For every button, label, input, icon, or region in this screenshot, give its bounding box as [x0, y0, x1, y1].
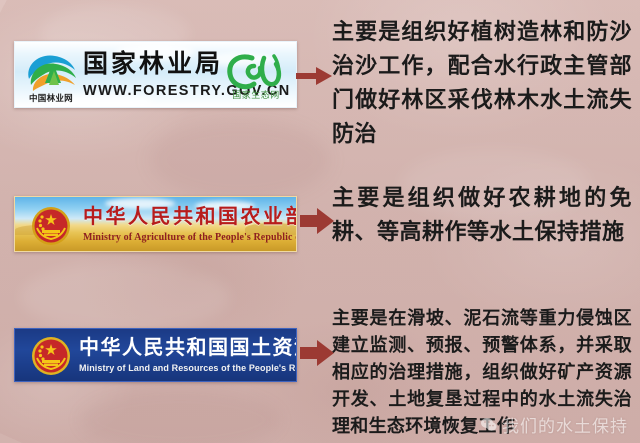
- right-arrow-icon: [300, 340, 334, 366]
- note-agriculture: 主要是组织做好农耕地的免耕、等高耕作等水土保持措施: [332, 182, 632, 250]
- agriculture-subtitle: Ministry of Agriculture of the People's …: [83, 232, 284, 243]
- watermark-text: 我们的水土保持: [502, 412, 628, 437]
- wechat-icon: [480, 416, 497, 433]
- right-arrow-icon: [296, 66, 332, 86]
- banner-agriculture: 中华人民共和国农业部 Ministry of Agriculture of th…: [14, 196, 297, 252]
- right-arrow-icon: [300, 208, 334, 234]
- forestry-logo-caption: 中国林业网: [21, 92, 81, 104]
- paper-texture-blot: [150, 120, 330, 200]
- land-title: 中华人民共和国国土资源部: [79, 335, 286, 360]
- page-root: 中国林业网 国家林业局 WWW.FORESTRY.GOV.CN 国家生态网 主要…: [0, 0, 640, 443]
- paper-texture-blot: [20, 262, 230, 332]
- note-forestry: 主要是组织好植树造林和防沙治沙工作，配合水行政主管部门做好林区采伐林木水土流失防…: [332, 16, 632, 152]
- cen-logo-caption: 国家生态网: [225, 88, 287, 101]
- agriculture-title: 中华人民共和国农业部: [83, 203, 284, 229]
- national-emblem-icon: [31, 206, 71, 246]
- watermark: 我们的水土保持: [480, 412, 628, 437]
- banner-forestry: 中国林业网 国家林业局 WWW.FORESTRY.GOV.CN 国家生态网: [14, 41, 297, 108]
- forestry-title: 国家林业局: [83, 49, 223, 79]
- paper-texture-blot: [80, 390, 280, 443]
- national-emblem-icon: [31, 336, 71, 376]
- banner-land: 中华人民共和国国土资源部 Ministry of Land and Resour…: [14, 328, 297, 382]
- land-subtitle: Ministry of Land and Resources of the Pe…: [79, 363, 286, 373]
